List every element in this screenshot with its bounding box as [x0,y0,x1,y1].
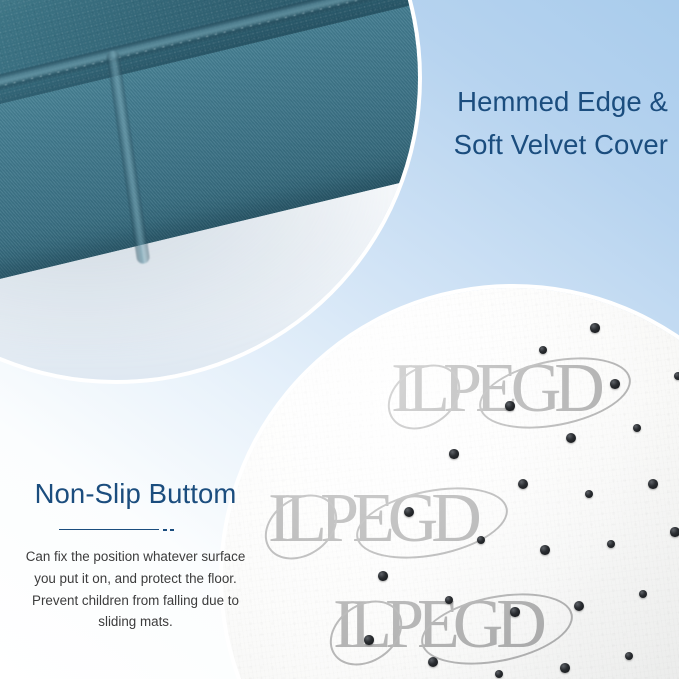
divider-dash-1 [163,529,167,531]
anti-slip-dot [364,635,373,644]
anti-slip-dot [540,545,550,555]
feature-title: Non-Slip Buttom [8,478,263,510]
feature-block: Non-Slip Buttom Can fix the position wha… [8,478,263,633]
headline: Hemmed Edge & Soft Velvet Cover [338,80,668,167]
divider-rule [59,529,159,531]
anti-slip-dot [510,607,519,616]
anti-slip-dot [505,401,514,410]
anti-slip-dot [670,527,679,536]
feature-divider [8,523,263,537]
anti-slip-dot [560,663,570,673]
anti-slip-dot [378,571,388,581]
feature-body-line: sliding mats. [8,611,263,633]
mat-shading [223,288,679,679]
anti-slip-dot [449,449,458,458]
headline-line-2: Soft Velvet Cover [338,123,668,166]
headline-line-1: Hemmed Edge & [338,80,668,123]
mat-surface: ILPEGD ILPEGD ILPEGD [223,288,679,679]
feature-body-line: Can fix the position whatever surface [8,546,263,568]
feature-body-line: you put it on, and protect the floor. [8,568,263,590]
anti-slip-dot [674,372,679,380]
non-slip-mat-photo-circle: ILPEGD ILPEGD ILPEGD [223,288,679,679]
anti-slip-dot [610,379,620,389]
anti-slip-dot [648,479,658,489]
feature-body-line: Prevent children from falling due to [8,590,263,612]
divider-dash-2 [170,529,174,531]
product-feature-graphic: ILPEGD ILPEGD ILPEGD Hemmed Edge & Soft … [0,0,679,679]
anti-slip-dot [590,323,599,332]
feature-body: Can fix the position whatever surface yo… [8,546,263,633]
